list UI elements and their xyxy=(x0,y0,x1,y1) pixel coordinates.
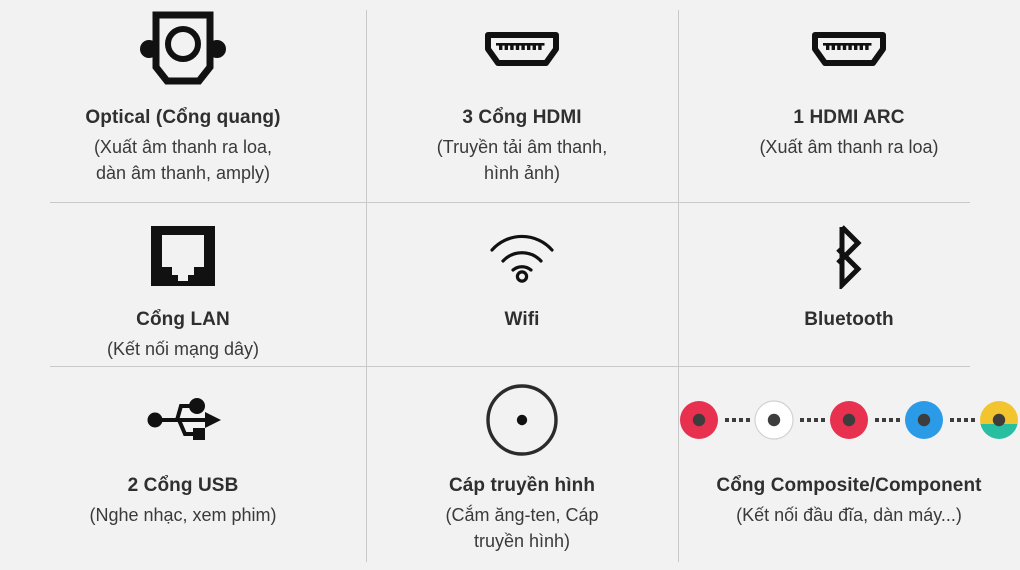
cell-title: Cổng Composite/Component xyxy=(716,474,981,499)
cell-wifi: Wifi xyxy=(366,218,678,333)
cell-description: (Xuất âm thanh ra loa,dàn âm thanh, ampl… xyxy=(94,134,272,186)
grid-horizontal-divider-1 xyxy=(50,202,970,203)
cell-title: 3 Cổng HDMI xyxy=(462,106,581,131)
cell-description: (Nghe nhạc, xem phim) xyxy=(89,502,276,528)
cell-title: Wifi xyxy=(504,308,539,333)
bluetooth-icon xyxy=(826,218,872,294)
cell-title: Cổng LAN xyxy=(136,308,230,333)
cell-hdmi: 3 Cổng HDMI (Truyền tải âm thanh,hình ản… xyxy=(366,8,678,186)
cell-usb: 2 Cổng USB (Nghe nhạc, xem phim) xyxy=(0,382,366,528)
connectivity-icon-grid: Optical (Cổng quang) (Xuất âm thanh ra l… xyxy=(0,0,1020,570)
cell-coaxial: Cáp truyền hình (Cắm ăng-ten, Cáptruyền … xyxy=(366,382,678,554)
cell-title: 2 Cổng USB xyxy=(128,474,239,499)
wifi-icon xyxy=(482,218,562,294)
cell-description: (Kết nối đầu đĩa, dàn máy...) xyxy=(736,502,962,528)
cell-title: Optical (Cổng quang) xyxy=(85,106,280,131)
composite-component-icon xyxy=(675,382,1020,458)
optical-port-icon xyxy=(137,8,229,94)
cell-description: (Xuất âm thanh ra loa) xyxy=(759,134,938,160)
hdmi-port-icon xyxy=(478,8,566,94)
cell-description: (Truyền tải âm thanh,hình ảnh) xyxy=(437,134,607,186)
cell-optical: Optical (Cổng quang) (Xuất âm thanh ra l… xyxy=(0,8,366,186)
hdmi-arc-port-icon xyxy=(805,8,893,94)
cell-description: (Cắm ăng-ten, Cáptruyền hình) xyxy=(445,502,598,554)
cell-bluetooth: Bluetooth xyxy=(678,218,1020,333)
grid-horizontal-divider-2 xyxy=(50,366,970,367)
cell-lan: Cổng LAN (Kết nối mạng dây) xyxy=(0,218,366,362)
cell-description: (Kết nối mạng dây) xyxy=(107,336,259,362)
coaxial-cable-icon xyxy=(484,382,560,458)
cell-title: Cáp truyền hình xyxy=(449,474,595,499)
cell-composite-component: Cổng Composite/Component (Kết nối đầu đĩ… xyxy=(678,382,1020,528)
cell-title: 1 HDMI ARC xyxy=(793,106,904,131)
lan-port-icon xyxy=(148,218,218,294)
usb-port-icon xyxy=(143,382,223,458)
cell-hdmi-arc: 1 HDMI ARC (Xuất âm thanh ra loa) xyxy=(678,8,1020,160)
cell-title: Bluetooth xyxy=(804,308,894,333)
